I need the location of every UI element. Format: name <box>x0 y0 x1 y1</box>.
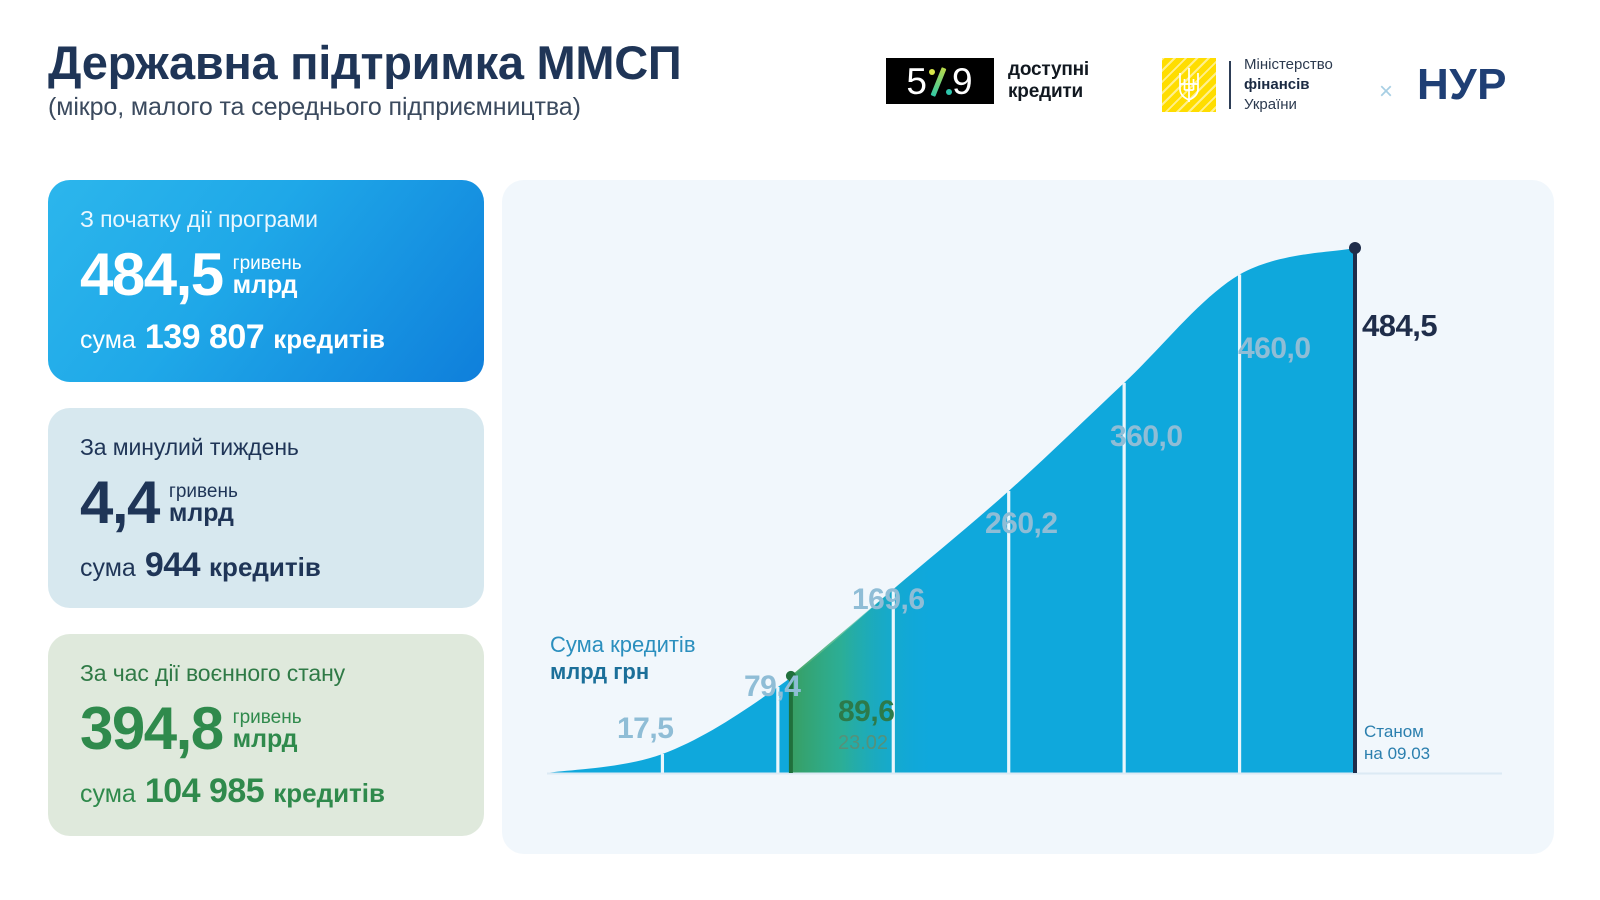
logo-579-available-credits: 5 9 доступні кредити <box>886 58 1089 104</box>
percent-gradient-icon <box>929 64 951 98</box>
logo-579-digits: 5 9 <box>906 63 973 100</box>
minfin-line-1: Міністерство <box>1244 55 1333 75</box>
card-amount: 394,8 <box>80 701 223 756</box>
card-label: З початку дії програми <box>80 206 454 233</box>
card-unit-bottom: млрд <box>233 727 302 752</box>
infographic-page: Державна підтримка ММСП (мікро, малого т… <box>0 0 1600 900</box>
card-unit-bottom: млрд <box>233 273 302 298</box>
chart-as-of-line1: Станом <box>1364 721 1430 743</box>
chart-y-axis-title: Сума кредитів млрд грн <box>550 632 696 686</box>
card-sum-word: сума <box>80 326 136 355</box>
card-count-unit: кредитів <box>273 324 385 355</box>
chart-value-label-current: 484,5 <box>1362 308 1437 344</box>
chart-value-label-2023: 260,2 <box>985 507 1058 541</box>
card-unit: гривень млрд <box>233 708 302 752</box>
chart-value-label-2024: 360,0 <box>1110 420 1183 454</box>
card-count: 944 <box>145 546 200 585</box>
logo-579-digit-right: 9 <box>952 63 974 100</box>
card-sum-word: сума <box>80 554 136 583</box>
chart-marker-value-2302: 89,6 <box>838 695 894 729</box>
card-count-row: сума 139 807 кредитів <box>80 318 454 357</box>
logo-divider <box>1229 61 1231 109</box>
chart-marker-date-2302: 23.02 <box>838 732 888 755</box>
ukraine-trident-icon <box>1162 58 1216 112</box>
logo-579-digit-left: 5 <box>906 63 928 100</box>
card-amount-row: 394,8 гривень млрд <box>80 701 454 756</box>
chart-value-label-2020: 17,5 <box>617 712 673 746</box>
logo-ministry-text: Міністерство фінансів України <box>1244 55 1333 115</box>
stat-card-last-week: За минулий тиждень 4,4 гривень млрд сума… <box>48 408 484 608</box>
logo-579-caption: доступні кредити <box>1008 59 1089 104</box>
logo-579-badge: 5 9 <box>886 58 994 104</box>
card-label: За минулий тиждень <box>80 434 454 461</box>
logo-579-caption-line1: доступні <box>1008 59 1089 81</box>
logo-ministry-of-finance: Міністерство фінансів України <box>1162 55 1333 115</box>
card-label: За час дії воєнного стану <box>80 660 454 687</box>
card-count-row: сума 104 985 кредитів <box>80 772 454 811</box>
card-unit-bottom: млрд <box>169 501 238 526</box>
card-amount-row: 4,4 гривень млрд <box>80 475 454 530</box>
card-unit: гривень млрд <box>169 482 238 526</box>
minfin-line-3: України <box>1244 95 1333 115</box>
card-count-unit: кредитів <box>273 778 385 809</box>
chart-value-label-2025: 460,0 <box>1238 332 1311 366</box>
page-header: Державна підтримка ММСП (мікро, малого т… <box>0 0 1600 165</box>
card-count: 139 807 <box>145 318 264 357</box>
card-count-row: сума 944 кредитів <box>80 546 454 585</box>
card-unit: гривень млрд <box>233 254 302 298</box>
card-amount: 4,4 <box>80 475 159 530</box>
card-sum-word: сума <box>80 780 136 809</box>
page-subtitle: (мікро, малого та середнього підприємниц… <box>48 93 681 122</box>
stat-card-since-program-start: З початку дії програми 484,5 гривень млр… <box>48 180 484 382</box>
chart-value-label-2022: 169,6 <box>852 583 925 617</box>
card-count: 104 985 <box>145 772 264 811</box>
stats-cards: З початку дії програми 484,5 гривень млр… <box>48 180 484 862</box>
logo-579-caption-line2: кредити <box>1008 81 1089 103</box>
page-title: Державна підтримка ММСП <box>48 38 681 88</box>
chart-panel: Сума кредитів млрд грн 17,5 79,4 169,6 2… <box>502 180 1554 854</box>
chart-y-axis-title-line2: млрд грн <box>550 659 696 686</box>
card-amount: 484,5 <box>80 247 223 302</box>
trident-glyph <box>1175 65 1203 105</box>
chart-as-of-line2: на 09.03 <box>1364 743 1430 765</box>
chart-y-axis-title-line1: Сума кредитів <box>550 632 696 659</box>
cross-separator-icon: × <box>1379 78 1393 106</box>
chart-area-fill <box>547 248 1355 773</box>
card-count-unit: кредитів <box>209 552 321 583</box>
logo-nur: НУР <box>1417 60 1507 110</box>
title-block: Державна підтримка ММСП (мікро, малого т… <box>48 38 681 122</box>
card-amount-row: 484,5 гривень млрд <box>80 247 454 302</box>
chart-value-label-2021: 79,4 <box>744 670 800 704</box>
chart-current-value-dot <box>1349 242 1361 254</box>
minfin-line-2: фінансів <box>1244 75 1333 95</box>
chart-as-of-note: Станом на 09.03 <box>1364 721 1430 765</box>
stat-card-martial-law-period: За час дії воєнного стану 394,8 гривень … <box>48 634 484 836</box>
